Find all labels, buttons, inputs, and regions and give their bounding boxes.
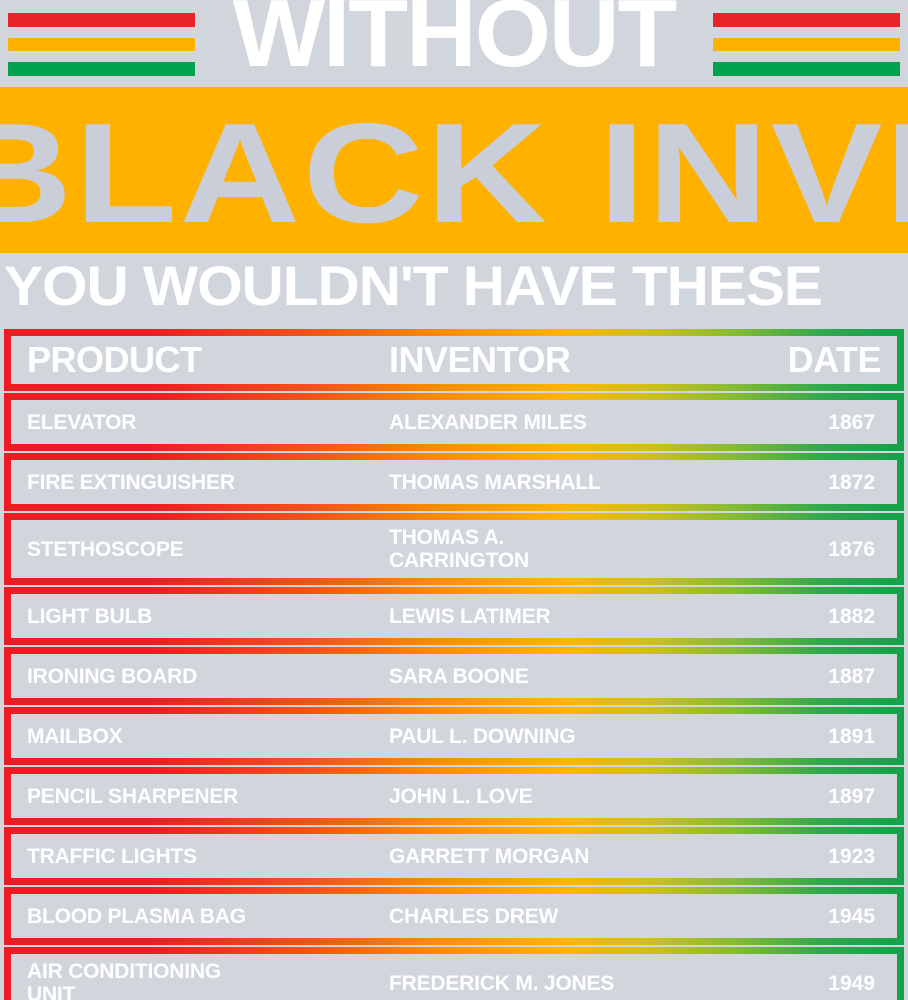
header-orange-band: BLACK INVENTORS xyxy=(0,87,908,253)
cell-date: 1949 xyxy=(767,972,897,995)
table-row-inner: STETHOSCOPETHOMAS A. CARRINGTON1876 xyxy=(11,520,897,578)
table-row: TRAFFIC LIGHTSGARRETT MORGAN1923 xyxy=(4,827,904,885)
cell-date: 1945 xyxy=(767,905,897,928)
table-row: STETHOSCOPETHOMAS A. CARRINGTON1876 xyxy=(4,513,904,585)
flag-bar-red-right xyxy=(713,13,900,27)
cell-product: IRONING BOARD xyxy=(11,665,383,688)
column-header-inventor: INVENTOR xyxy=(383,341,767,379)
table-row-inner: TRAFFIC LIGHTSGARRETT MORGAN1923 xyxy=(11,834,897,878)
table-row: ELEVATORALEXANDER MILES1867 xyxy=(4,393,904,451)
table-row-inner: MAILBOXPAUL L. DOWNING1891 xyxy=(11,714,897,758)
cell-product: TRAFFIC LIGHTS xyxy=(11,845,383,868)
table-row: AIR CONDITIONING UNITFREDERICK M. JONES1… xyxy=(4,947,904,1000)
table-row-inner: AIR CONDITIONING UNITFREDERICK M. JONES1… xyxy=(11,954,897,1000)
cell-date: 1897 xyxy=(767,785,897,808)
flag-bars-right xyxy=(713,0,900,87)
cell-inventor: THOMAS MARSHALL xyxy=(383,471,767,494)
column-header-product: PRODUCT xyxy=(11,341,383,379)
header-sub-band: YOU WOULDN'T HAVE THESE xyxy=(0,253,908,329)
cell-product: STETHOSCOPE xyxy=(11,538,383,561)
flag-bar-green-right xyxy=(713,62,900,76)
cell-date: 1867 xyxy=(767,411,897,434)
cell-inventor: GARRETT MORGAN xyxy=(383,845,767,868)
table-header-row: PRODUCT INVENTOR DATE xyxy=(4,329,904,391)
cell-inventor: THOMAS A. CARRINGTON xyxy=(383,526,767,572)
table-row-inner: IRONING BOARDSARA BOONE1887 xyxy=(11,654,897,698)
table-row-inner: FIRE EXTINGUISHERTHOMAS MARSHALL1872 xyxy=(11,460,897,504)
cell-inventor: SARA BOONE xyxy=(383,665,767,688)
flag-bar-orange-right xyxy=(713,38,900,52)
cell-inventor: FREDERICK M. JONES xyxy=(383,972,767,995)
table-body: ELEVATORALEXANDER MILES1867FIRE EXTINGUI… xyxy=(4,393,904,1000)
header-top-band: WITHOUT xyxy=(0,0,908,87)
table-row-inner: ELEVATORALEXANDER MILES1867 xyxy=(11,400,897,444)
table-row: BLOOD PLASMA BAGCHARLES DREW1945 xyxy=(4,887,904,945)
cell-product: ELEVATOR xyxy=(11,411,383,434)
table-row: FIRE EXTINGUISHERTHOMAS MARSHALL1872 xyxy=(4,453,904,511)
cell-inventor: PAUL L. DOWNING xyxy=(383,725,767,748)
cell-inventor: ALEXANDER MILES xyxy=(383,411,767,434)
poster-root: WITHOUT BLACK INVENTORS YOU WOULDN'T HAV… xyxy=(0,0,908,1000)
inventions-table: PRODUCT INVENTOR DATE ELEVATORALEXANDER … xyxy=(0,329,908,1000)
cell-inventor: LEWIS LATIMER xyxy=(383,605,767,628)
cell-inventor: CHARLES DREW xyxy=(383,905,767,928)
headline-black-inventors: BLACK INVENTORS xyxy=(0,103,908,245)
cell-product: LIGHT BULB xyxy=(11,605,383,628)
column-header-date: DATE xyxy=(767,341,897,379)
cell-inventor: JOHN L. LOVE xyxy=(383,785,767,808)
cell-date: 1887 xyxy=(767,665,897,688)
table-row: LIGHT BULBLEWIS LATIMER1882 xyxy=(4,587,904,645)
cell-product: MAILBOX xyxy=(11,725,383,748)
cell-date: 1891 xyxy=(767,725,897,748)
table-row-inner: PENCIL SHARPENERJOHN L. LOVE1897 xyxy=(11,774,897,818)
table-row: MAILBOXPAUL L. DOWNING1891 xyxy=(4,707,904,765)
cell-date: 1876 xyxy=(767,538,897,561)
table-row-inner: LIGHT BULBLEWIS LATIMER1882 xyxy=(11,594,897,638)
cell-date: 1923 xyxy=(767,845,897,868)
cell-product: AIR CONDITIONING UNIT xyxy=(11,960,383,1000)
table-row: PENCIL SHARPENERJOHN L. LOVE1897 xyxy=(4,767,904,825)
cell-date: 1872 xyxy=(767,471,897,494)
cell-product: PENCIL SHARPENER xyxy=(11,785,383,808)
cell-date: 1882 xyxy=(767,605,897,628)
table-row: IRONING BOARDSARA BOONE1887 xyxy=(4,647,904,705)
table-row-inner: BLOOD PLASMA BAGCHARLES DREW1945 xyxy=(11,894,897,938)
table-header-inner: PRODUCT INVENTOR DATE xyxy=(11,336,897,384)
cell-product: BLOOD PLASMA BAG xyxy=(11,905,383,928)
headline-subtitle: YOU WOULDN'T HAVE THESE xyxy=(4,255,908,317)
cell-product: FIRE EXTINGUISHER xyxy=(11,471,383,494)
